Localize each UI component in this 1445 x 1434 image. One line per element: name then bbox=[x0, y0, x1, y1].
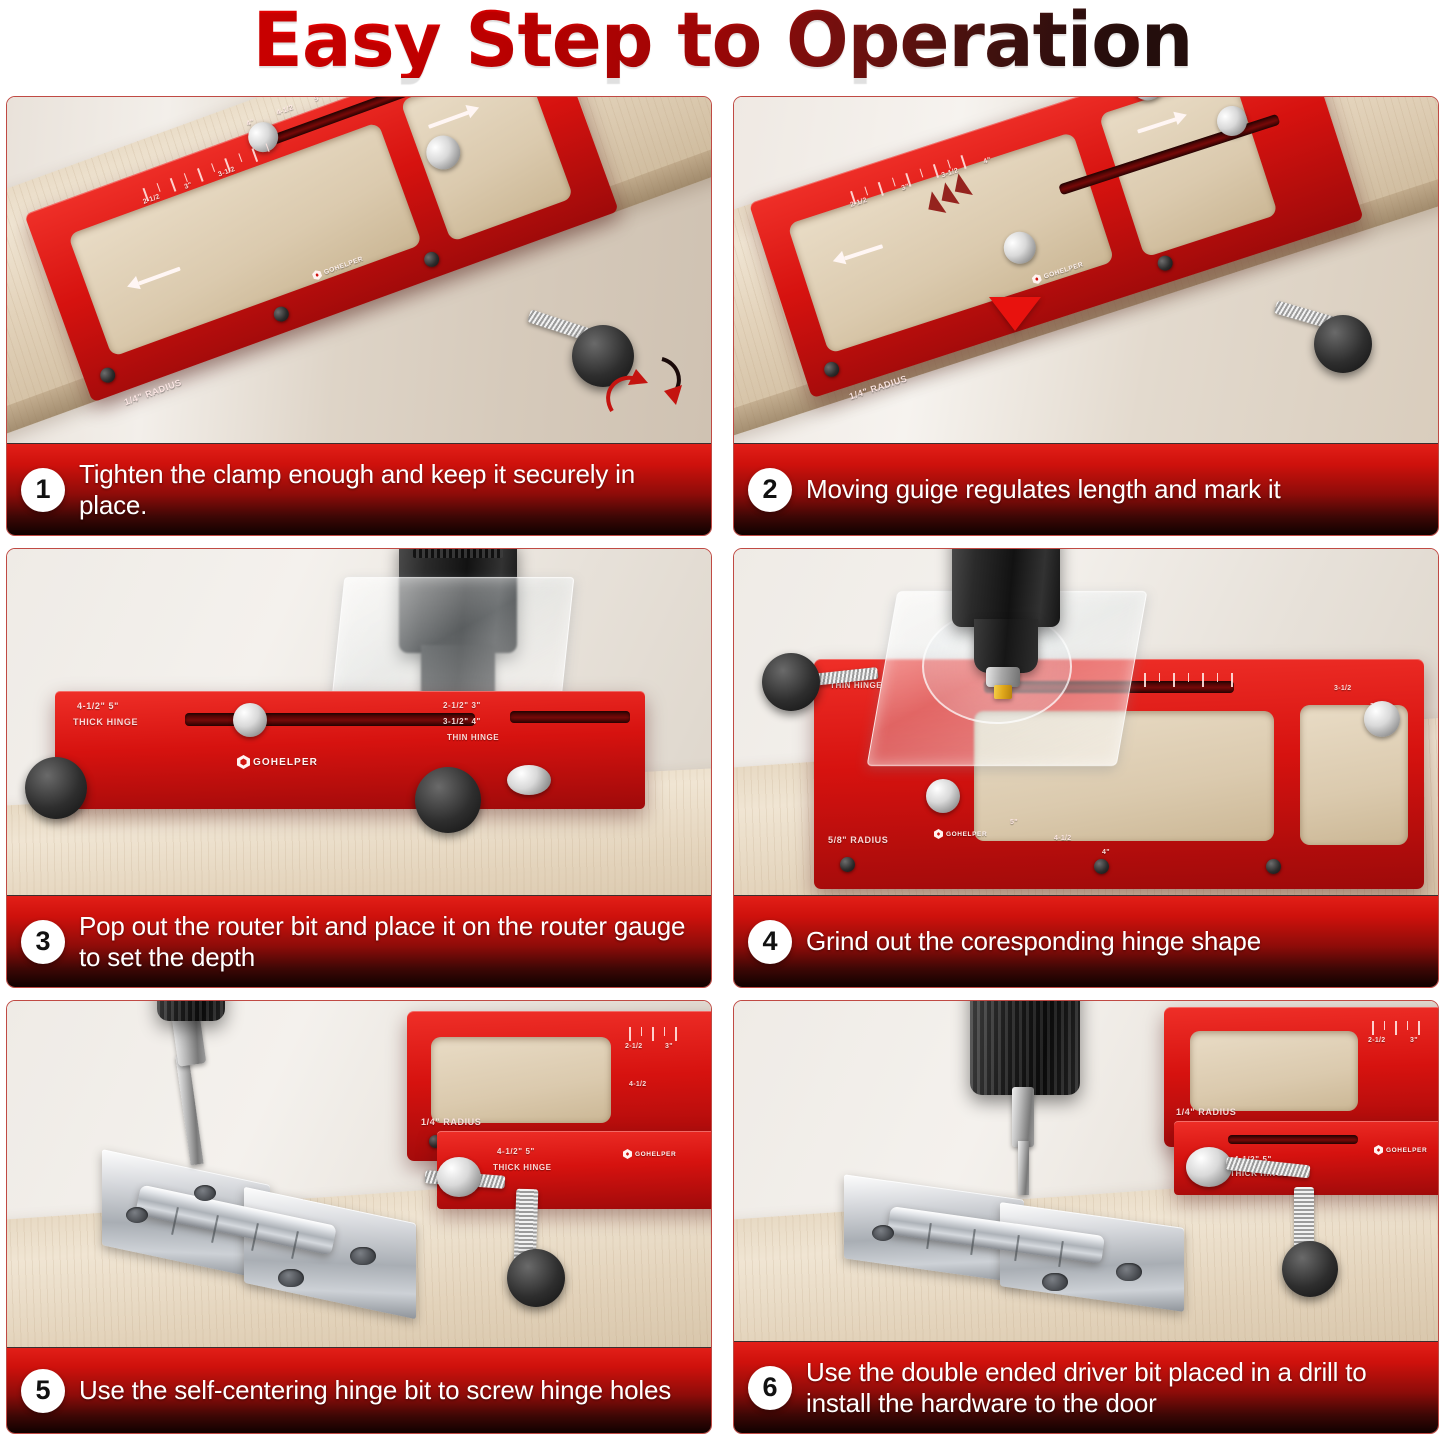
hinge-jig-rail-5: 4-1/2" 5" THICK HINGE GOHELPER bbox=[437, 1131, 711, 1251]
brand-logo: GOHELPER bbox=[1374, 1145, 1427, 1155]
page-title: Easy Step to Operation bbox=[253, 2, 1193, 78]
jig-scale-ticks bbox=[629, 1027, 677, 1041]
clamp-knob[interactable] bbox=[507, 1249, 565, 1307]
jig-thumb-screw[interactable] bbox=[926, 779, 960, 813]
engrave-radius-14: 1/4" RADIUS bbox=[1176, 1107, 1236, 1117]
step-panel-5: 2-1/2 3" 4-1/2 1/4" RADIUS 4-1/2" 5" THI… bbox=[6, 1000, 712, 1434]
step-caption-text-3: Pop out the router bit and place it on t… bbox=[79, 911, 701, 972]
brand-logo: GOHELPER bbox=[623, 1149, 676, 1159]
step-badge-5: 5 bbox=[21, 1369, 65, 1413]
double-ended-driver-bit bbox=[1018, 1141, 1029, 1195]
step-6-caption: 6 Use the double ended driver bit placed… bbox=[734, 1341, 1438, 1433]
jig-body bbox=[55, 691, 645, 809]
clamp-knob[interactable] bbox=[1282, 1241, 1338, 1297]
step-4-photo: 5" 4-1/2 4" 3-1/2 3" 5/8" RADIUS THIN HI… bbox=[734, 549, 1438, 895]
hinge-leaf-right bbox=[244, 1187, 416, 1320]
step-5-photo: 2-1/2 3" 4-1/2 1/4" RADIUS 4-1/2" 5" THI… bbox=[7, 1001, 711, 1347]
step-3-caption: 3 Pop out the router bit and place it on… bbox=[7, 895, 711, 987]
step-1-caption: 1 Tighten the clamp enough and keep it s… bbox=[7, 443, 711, 535]
jig-roller bbox=[507, 765, 551, 795]
scale-label-4: 4" bbox=[1102, 849, 1110, 856]
step-badge-3: 3 bbox=[21, 920, 65, 964]
door-hinge bbox=[844, 1181, 1224, 1331]
jig-bolt bbox=[840, 857, 855, 872]
brand-logo: GOHELPER bbox=[934, 829, 987, 839]
step-caption-text-6: Use the double ended driver bit placed i… bbox=[806, 1357, 1428, 1418]
jig-thumb-screw[interactable] bbox=[233, 703, 267, 737]
hexagon-shield-icon bbox=[623, 1149, 632, 1159]
jig-window-opening bbox=[431, 1037, 611, 1123]
jig-bolt bbox=[1266, 859, 1281, 874]
drill-chuck bbox=[970, 1001, 1080, 1095]
router-motor-neck bbox=[974, 619, 1038, 673]
engrave-radius-14: 1/4" RADIUS bbox=[421, 1117, 481, 1127]
step-panel-3: 4-1/2" 5" THICK HINGE 2-1/2" 3" 3-1/2" 4… bbox=[6, 548, 712, 988]
step-1-photo: 2-1/2 3" 3-1/2 4" 4-1/2 5" 5/8" RADIUS 1… bbox=[7, 97, 711, 443]
engrave-thick-label: THICK HINGE bbox=[493, 1163, 552, 1172]
header: Easy Step to Operation bbox=[0, 0, 1445, 96]
scale-label-4-5: 4-1/2 bbox=[1054, 835, 1071, 842]
door-hinge bbox=[102, 1151, 462, 1311]
scale-label-5: 5" bbox=[1010, 819, 1018, 826]
jig-adjust-slot bbox=[1228, 1135, 1358, 1144]
jig-window-opening bbox=[1190, 1031, 1358, 1111]
step-panel-4: 5" 4-1/2 4" 3-1/2 3" 5/8" RADIUS THIN HI… bbox=[733, 548, 1439, 988]
jig-scale-ticks bbox=[1372, 1021, 1420, 1035]
brand-name: GOHELPER bbox=[635, 1151, 676, 1158]
hinge-screw-hole bbox=[1116, 1263, 1142, 1281]
step-caption-text-4: Grind out the coresponding hinge shape bbox=[806, 926, 1261, 957]
step-caption-text-1: Tighten the clamp enough and keep it sec… bbox=[79, 459, 701, 520]
brand-logo: GOHELPER bbox=[237, 755, 318, 769]
clamp-knob[interactable] bbox=[762, 653, 820, 711]
scale-label-4-5: 4-1/2 bbox=[276, 104, 295, 117]
scale-label-2-5: 2-1/2 bbox=[1368, 1037, 1385, 1044]
scale-label-5: 5" bbox=[313, 97, 323, 103]
clamp-knob[interactable] bbox=[1314, 315, 1372, 373]
jig-thumb-screw[interactable] bbox=[1364, 701, 1400, 737]
step-6-photo: 2-1/2 3" 1/4" RADIUS 4-1/2" 5" THICK HIN… bbox=[734, 1001, 1438, 1341]
engrave-thick-label: THICK HINGE bbox=[73, 717, 138, 727]
engrave-thin-label: THIN HINGE bbox=[447, 733, 499, 742]
engrave-thick-sizes: 4-1/2" 5" bbox=[77, 701, 119, 711]
engrave-thick-sizes: 4-1/2" 5" bbox=[497, 1147, 535, 1156]
hinge-screw-hole bbox=[194, 1185, 216, 1201]
step-badge-6: 6 bbox=[748, 1366, 792, 1410]
step-3-photo: 4-1/2" 5" THICK HINGE 2-1/2" 3" 3-1/2" 4… bbox=[7, 549, 711, 895]
hexagon-shield-icon bbox=[1374, 1145, 1383, 1155]
hinge-jig-assembly-3: 4-1/2" 5" THICK HINGE 2-1/2" 3" 3-1/2" 4… bbox=[55, 691, 675, 831]
step-2-photo: 2-1/2 3" 3-1/2 4" 5/8" RADIUS 1/4" RADIU… bbox=[734, 97, 1438, 443]
step-panel-2: 2-1/2 3" 3-1/2 4" 5/8" RADIUS 1/4" RADIU… bbox=[733, 96, 1439, 536]
brand-name: GOHELPER bbox=[946, 831, 987, 838]
step-caption-text-2: Moving guige regulates length and mark i… bbox=[806, 474, 1281, 505]
scale-label-3-5: 3-1/2 bbox=[1334, 685, 1351, 692]
rotation-arrows-icon bbox=[592, 333, 702, 423]
jig-bolt bbox=[1094, 859, 1109, 874]
step-panel-6: 2-1/2 3" 1/4" RADIUS 4-1/2" 5" THICK HIN… bbox=[733, 1000, 1439, 1434]
scale-label-3: 3" bbox=[665, 1043, 673, 1050]
router-motor-body bbox=[952, 549, 1060, 627]
jig-clamp-knob-left[interactable] bbox=[25, 757, 87, 819]
brand-name: GOHELPER bbox=[1386, 1147, 1427, 1154]
hinge-screw-hole bbox=[126, 1207, 148, 1223]
hinge-screw-hole bbox=[350, 1247, 376, 1265]
step-badge-1: 1 bbox=[21, 468, 65, 512]
step-badge-2: 2 bbox=[748, 468, 792, 512]
scale-label-4-5: 4-1/2 bbox=[629, 1081, 646, 1088]
driver-bit-hex-shank bbox=[1012, 1087, 1034, 1147]
brand-name: GOHELPER bbox=[253, 757, 318, 768]
step-5-caption: 5 Use the self-centering hinge bit to sc… bbox=[7, 1347, 711, 1433]
scale-label-3: 3" bbox=[1410, 1037, 1418, 1044]
hinge-screw-hole bbox=[872, 1225, 894, 1241]
engrave-radius-58: 5/8" RADIUS bbox=[828, 835, 888, 845]
hinge-screw-hole bbox=[278, 1269, 304, 1287]
engrave-thin-sizes-b: 3-1/2" 4" bbox=[443, 717, 481, 726]
step-2-caption: 2 Moving guige regulates length and mark… bbox=[734, 443, 1438, 535]
router-collet bbox=[986, 667, 1020, 687]
step-badge-4: 4 bbox=[748, 920, 792, 964]
router-bit bbox=[994, 685, 1012, 699]
drill-chuck bbox=[157, 1001, 225, 1021]
jig-adjust-slot-2 bbox=[510, 711, 630, 723]
step-caption-text-5: Use the self-centering hinge bit to scre… bbox=[79, 1375, 671, 1406]
step-4-caption: 4 Grind out the coresponding hinge shape bbox=[734, 895, 1438, 987]
step-panel-1: 2-1/2 3" 3-1/2 4" 4-1/2 5" 5/8" RADIUS 1… bbox=[6, 96, 712, 536]
hexagon-shield-icon bbox=[237, 755, 250, 769]
scale-label-2-5: 2-1/2 bbox=[625, 1043, 642, 1050]
jig-clamp-knob-right[interactable] bbox=[415, 767, 481, 833]
slide-direction-arrow-icon bbox=[989, 297, 1041, 331]
engrave-thin-sizes-a: 2-1/2" 3" bbox=[443, 701, 481, 710]
jig-scale-ticks bbox=[1144, 673, 1233, 687]
steps-grid: 2-1/2 3" 3-1/2 4" 4-1/2 5" 5/8" RADIUS 1… bbox=[0, 96, 1445, 1434]
hinge-screw-hole bbox=[1042, 1273, 1068, 1291]
jig-adjust-slot bbox=[185, 713, 475, 726]
hexagon-shield-icon bbox=[934, 829, 943, 839]
